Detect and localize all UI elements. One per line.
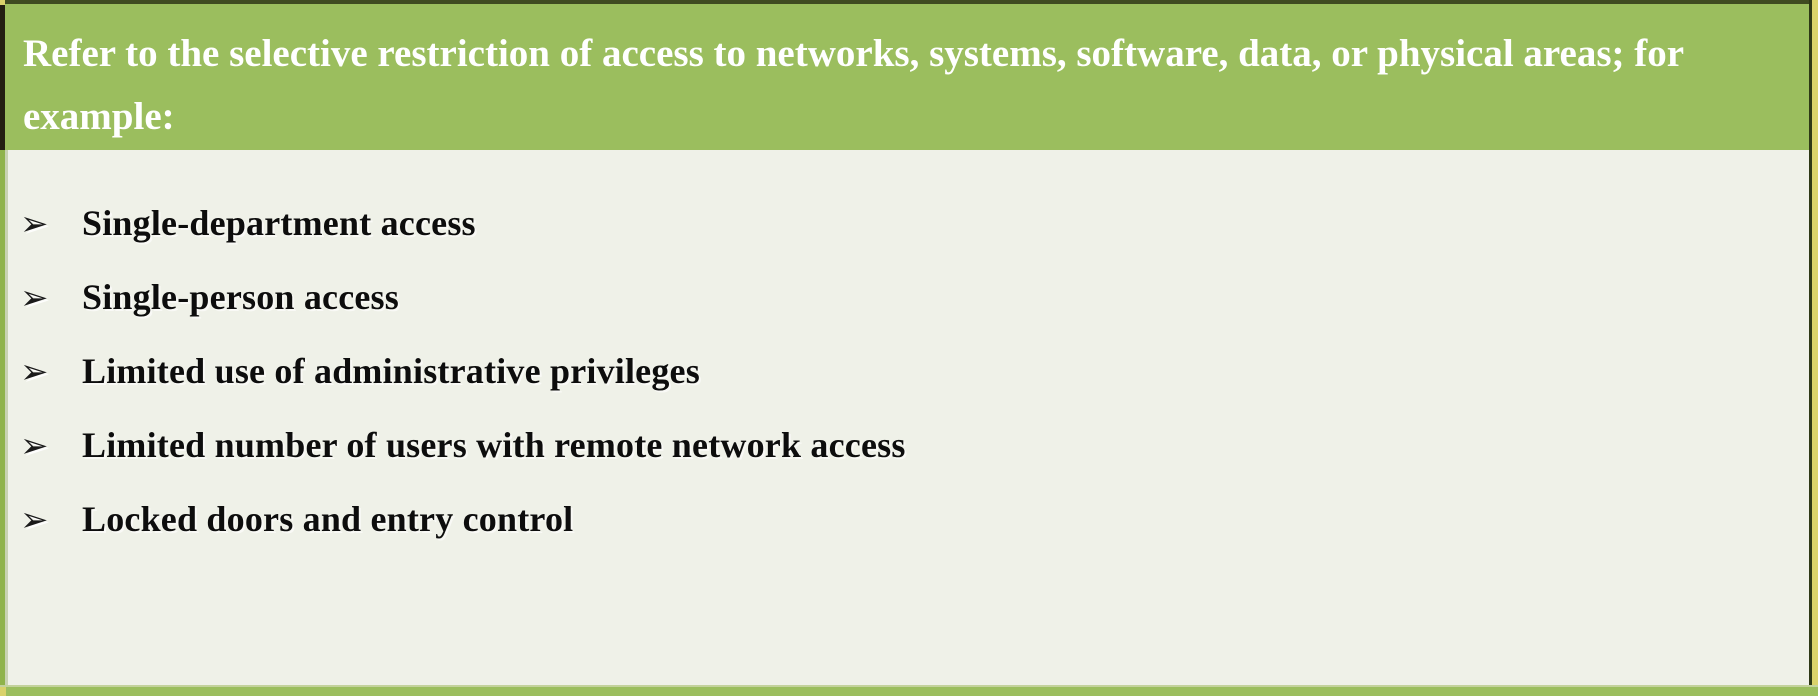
header-banner: Refer to the selective restriction of ac… (5, 4, 1810, 150)
arrowhead-bullet-icon: ➢ (20, 429, 82, 463)
border-top (0, 0, 1818, 4)
slide-card: Refer to the selective restriction of ac… (0, 0, 1818, 696)
corner-marker-bottom-left (0, 687, 6, 696)
border-left-accent (5, 150, 8, 690)
list-item: ➢ Single-department access (8, 204, 1810, 278)
list-item: ➢ Locked doors and entry control (8, 500, 1810, 574)
list-item: ➢ Single-person access (8, 278, 1810, 352)
list-item-label: Limited use of administrative privileges (82, 352, 700, 390)
list-item-label: Single-department access (82, 204, 476, 242)
border-right-inner (1809, 0, 1812, 690)
slide-body: ➢ Single-department access ➢ Single-pers… (8, 150, 1810, 690)
bullet-list: ➢ Single-department access ➢ Single-pers… (8, 204, 1810, 574)
arrowhead-bullet-icon: ➢ (20, 503, 82, 537)
border-bottom (0, 687, 1818, 696)
arrowhead-bullet-icon: ➢ (20, 281, 82, 315)
list-item: ➢ Limited use of administrative privileg… (8, 352, 1810, 426)
border-left-upper (0, 0, 5, 152)
list-item-label: Locked doors and entry control (82, 500, 573, 538)
list-item-label: Limited number of users with remote netw… (82, 426, 906, 464)
header-title: Refer to the selective restriction of ac… (23, 22, 1786, 148)
arrowhead-bullet-icon: ➢ (20, 207, 82, 241)
border-right-outer (1812, 0, 1818, 690)
list-item: ➢ Limited number of users with remote ne… (8, 426, 1810, 500)
arrowhead-bullet-icon: ➢ (20, 355, 82, 389)
list-item-label: Single-person access (82, 278, 399, 316)
corner-marker-top-left (0, 0, 5, 5)
